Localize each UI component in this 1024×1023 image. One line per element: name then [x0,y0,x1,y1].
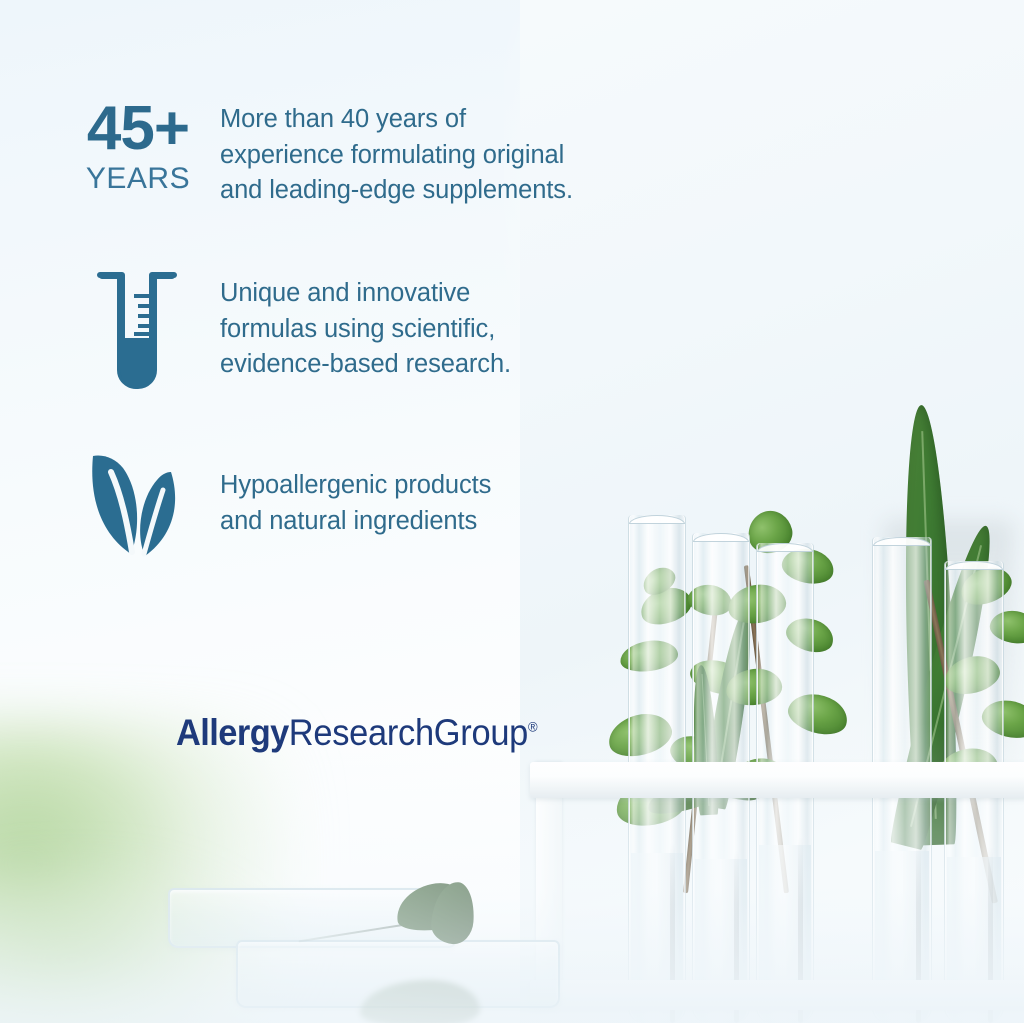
background-bottom-haze [0,723,1024,1023]
logo-word-researchgroup: ResearchGroup [289,712,528,753]
feature-item-years-experience: 45+ YEARS More than 40 years of experien… [72,96,573,209]
brand-logo: AllergyResearchGroup® [176,714,538,751]
feature-item-hypoallergenic: Hypoallergenic products and natural ingr… [72,442,491,558]
leaf-icon [72,442,202,558]
registered-trademark-icon: ® [528,719,538,735]
feature-item-innovative-formulas: Unique and innovative formulas using sci… [72,270,511,394]
beaker-icon [72,270,202,394]
years-badge: 45+ YEARS [72,96,204,194]
feature-text-hypoallergenic: Hypoallergenic products and natural ingr… [220,442,491,539]
feature-text-years-experience: More than 40 years of experience formula… [220,96,573,209]
brand-feature-graphic: 45+ YEARS More than 40 years of experien… [0,0,1024,1023]
logo-word-allergy: Allergy [176,712,289,753]
years-unit-label: YEARS [72,164,204,194]
years-number: 45+ [72,98,204,160]
feature-text-innovative-formulas: Unique and innovative formulas using sci… [220,270,511,383]
